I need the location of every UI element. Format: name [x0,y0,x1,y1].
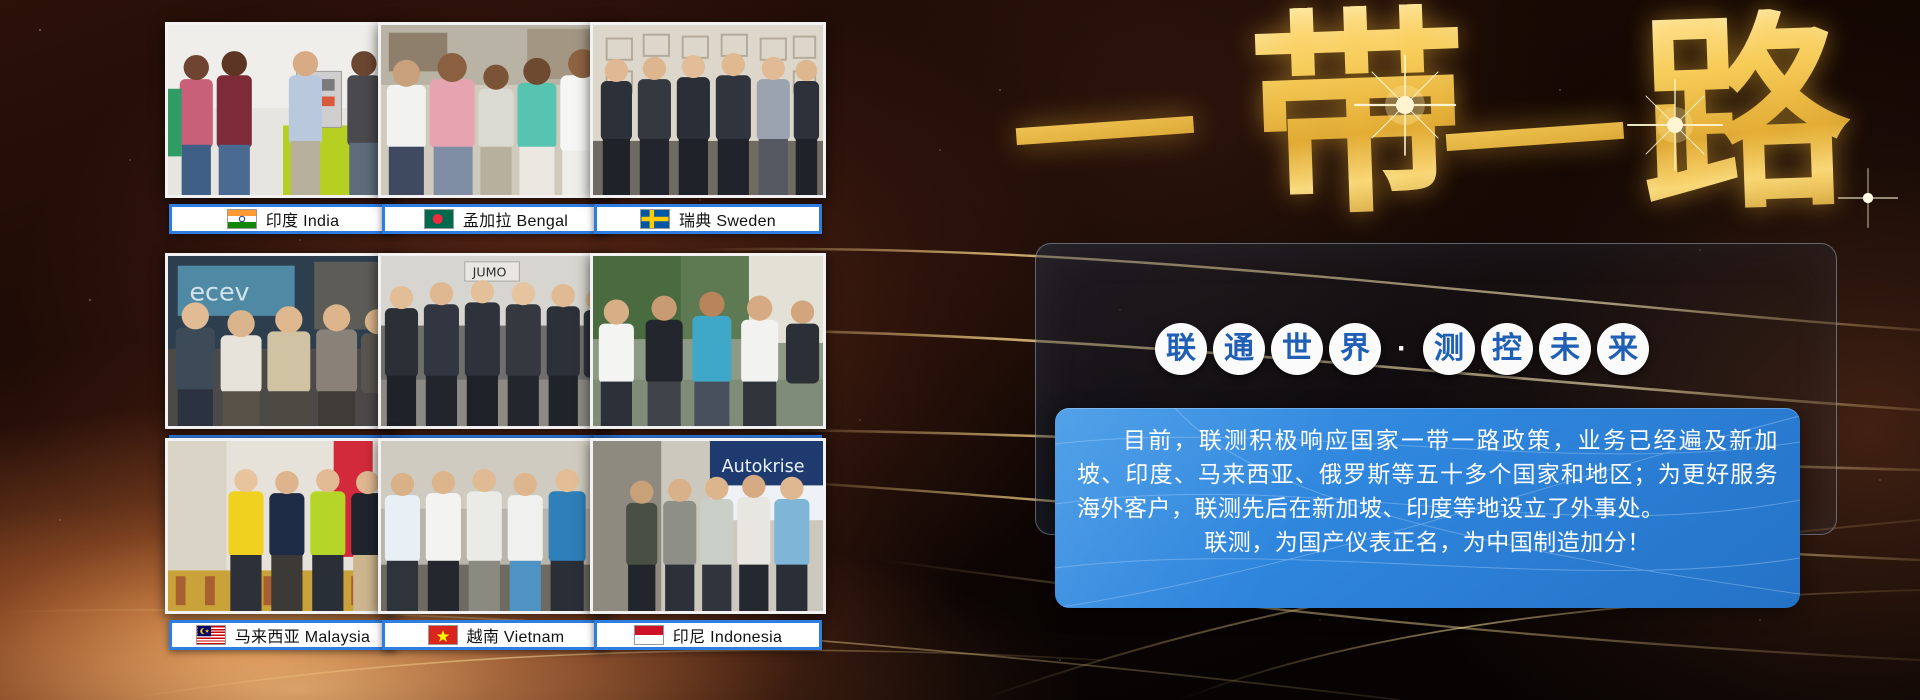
gallery-label-bengal: 孟加拉 Bengal [382,204,610,234]
headline-char-4: 路 [1636,6,1853,223]
description-paragraph-1: 目前，联测积极响应国家一带一路政策，业务已经遍及新加坡、印度、马来西亚、俄罗斯等… [1077,424,1778,526]
gallery-label-text: 印度 India [266,207,340,231]
slogan-circle-1: 联 [1155,323,1207,375]
flag-vietnam-icon [428,625,458,645]
gallery-label-text: 瑞典 Sweden [679,207,776,231]
flag-sweden-icon [640,209,670,229]
gallery-item-india[interactable]: 印度 India [165,22,401,237]
flag-india-icon [227,209,257,229]
gallery-item-malaysia[interactable]: 马来西亚 Malaysia [165,438,401,653]
flag-indonesia-icon [634,625,664,645]
gallery-item-germany[interactable]: JUMO [378,253,614,468]
gallery-label-malaysia: 马来西亚 Malaysia [169,620,397,650]
gallery-item-sweden[interactable]: 瑞典 Sweden [590,22,826,237]
slogan-circle-4: 界 [1329,323,1381,375]
slogan-circle-2: 通 [1213,323,1265,375]
slogan-circle-3: 世 [1271,323,1323,375]
gallery-label-vietnam: 越南 Vietnam [382,620,610,650]
photo-malaysia [165,438,401,614]
gallery-item-thailand[interactable]: 泰国 Thailand [590,253,826,468]
gallery-label-text: 越南 Vietnam [467,623,565,647]
photo-india [165,22,401,198]
svg-text:Autokrise: Autokrise [722,457,805,477]
gallery-item-indonesia[interactable]: Autokrise [590,438,826,653]
description-paragraph-2: 联测，为国产仪表正名，为中国制造加分！ [1077,526,1778,560]
headline-calligraphy: 一 带 一 路 [1010,0,1910,250]
slogan-separator: · [1387,323,1417,375]
gallery-item-bengal[interactable]: 孟加拉 Bengal [378,22,614,237]
slogan-circles: 联 通 世 界 · 测 控 未 来 [1155,318,1715,380]
banner-stage: 印度 India [0,0,1920,700]
gallery-label-text: 孟加拉 Bengal [463,207,568,231]
country-gallery-grid: 印度 India [0,0,1000,700]
description-text: 目前，联测积极响应国家一带一路政策，业务已经遍及新加坡、印度、马来西亚、俄罗斯等… [1077,424,1778,560]
flag-malaysia-icon [196,625,226,645]
headline-char-2: 带 [1246,2,1471,227]
svg-text:ecev: ecev [189,278,249,307]
description-box: 目前，联测积极响应国家一带一路政策，业务已经遍及新加坡、印度、马来西亚、俄罗斯等… [1055,408,1800,608]
gallery-label-indonesia: 印尼 Indonesia [594,620,822,650]
photo-sweden [590,22,826,198]
photo-germany: JUMO [378,253,614,429]
gallery-item-singapore[interactable]: ecev [165,253,401,468]
headline-char-3: 一 [1436,62,1634,225]
gallery-label-text: 马来西亚 Malaysia [235,623,371,647]
photo-singapore: ecev [165,253,401,429]
slogan-circle-7: 未 [1539,323,1591,375]
photo-bengal [378,22,614,198]
slogan-circle-6: 控 [1481,323,1533,375]
flag-bangladesh-icon [424,209,454,229]
slogan-circle-8: 来 [1597,323,1649,375]
slogan-circle-5: 测 [1423,323,1475,375]
gallery-label-text: 印尼 Indonesia [673,623,782,647]
svg-text:JUMO: JUMO [472,264,507,279]
gallery-label-sweden: 瑞典 Sweden [594,204,822,234]
photo-indonesia: Autokrise [590,438,826,614]
headline-char-1: 一 [1006,56,1204,219]
gallery-item-vietnam[interactable]: 越南 Vietnam [378,438,614,653]
gallery-label-india: 印度 India [169,204,397,234]
photo-thailand [590,253,826,429]
photo-vietnam [378,438,614,614]
